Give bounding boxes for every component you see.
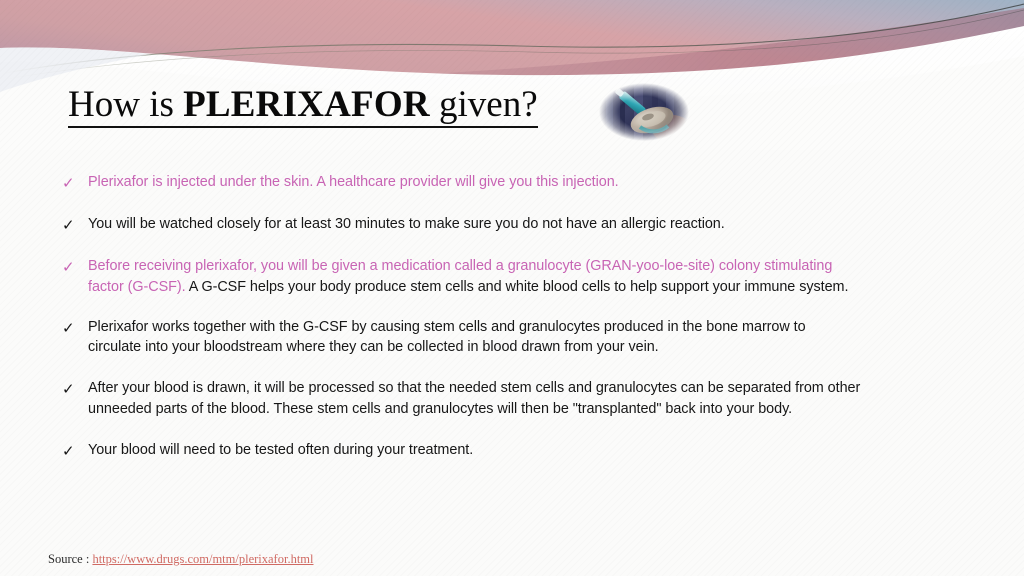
list-item: ✓ Before receiving plerixafor, you will … [62,256,862,298]
list-item: ✓ Plerixafor works together with the G-C… [62,317,862,359]
list-item-text: Plerixafor works together with the G-CSF… [88,317,862,359]
list-item-text: You will be watched closely for at least… [88,214,862,235]
source-line: Source : https://www.drugs.com/mtm/pleri… [48,552,313,567]
list-item-text: Plerixafor is injected under the skin. A… [88,172,862,193]
bullet-list: ✓ Plerixafor is injected under the skin.… [62,172,862,462]
check-icon: ✓ [62,172,88,194]
text-run: A G-CSF helps your body produce stem cel… [186,279,849,295]
text-run: After your blood is drawn, it will be pr… [88,380,860,417]
source-link[interactable]: https://www.drugs.com/mtm/plerixafor.htm… [92,552,313,566]
check-icon: ✓ [62,256,88,278]
check-icon: ✓ [62,214,88,236]
list-item-text: Before receiving plerixafor, you will be… [88,256,862,298]
text-run: Plerixafor is injected under the skin. A… [88,174,619,190]
text-run: You will be watched closely for at least… [88,216,725,232]
source-label: Source : [48,552,92,566]
title-text: How is PLERIXAFOR given? [68,86,538,128]
title-part-2: given? [430,84,538,125]
title-part-1: How is [68,84,183,125]
check-icon: ✓ [62,440,88,462]
check-icon: ✓ [62,378,88,400]
list-item-text: Your blood will need to be tested often … [88,440,862,461]
list-item: ✓ Plerixafor is injected under the skin.… [62,172,862,194]
text-run: Plerixafor works together with the G-CSF… [88,319,806,356]
slide: How is PLERIXAFOR given? [0,0,1024,576]
syringe-photo [596,81,692,143]
page-title: How is PLERIXAFOR given? [68,86,538,128]
list-item: ✓ After your blood is drawn, it will be … [62,378,862,420]
check-icon: ✓ [62,317,88,339]
title-drug-name: PLERIXAFOR [183,84,430,125]
list-item: ✓ Your blood will need to be tested ofte… [62,440,862,462]
list-item-text: After your blood is drawn, it will be pr… [88,378,862,420]
text-run: Your blood will need to be tested often … [88,442,473,458]
list-item: ✓ You will be watched closely for at lea… [62,214,862,236]
